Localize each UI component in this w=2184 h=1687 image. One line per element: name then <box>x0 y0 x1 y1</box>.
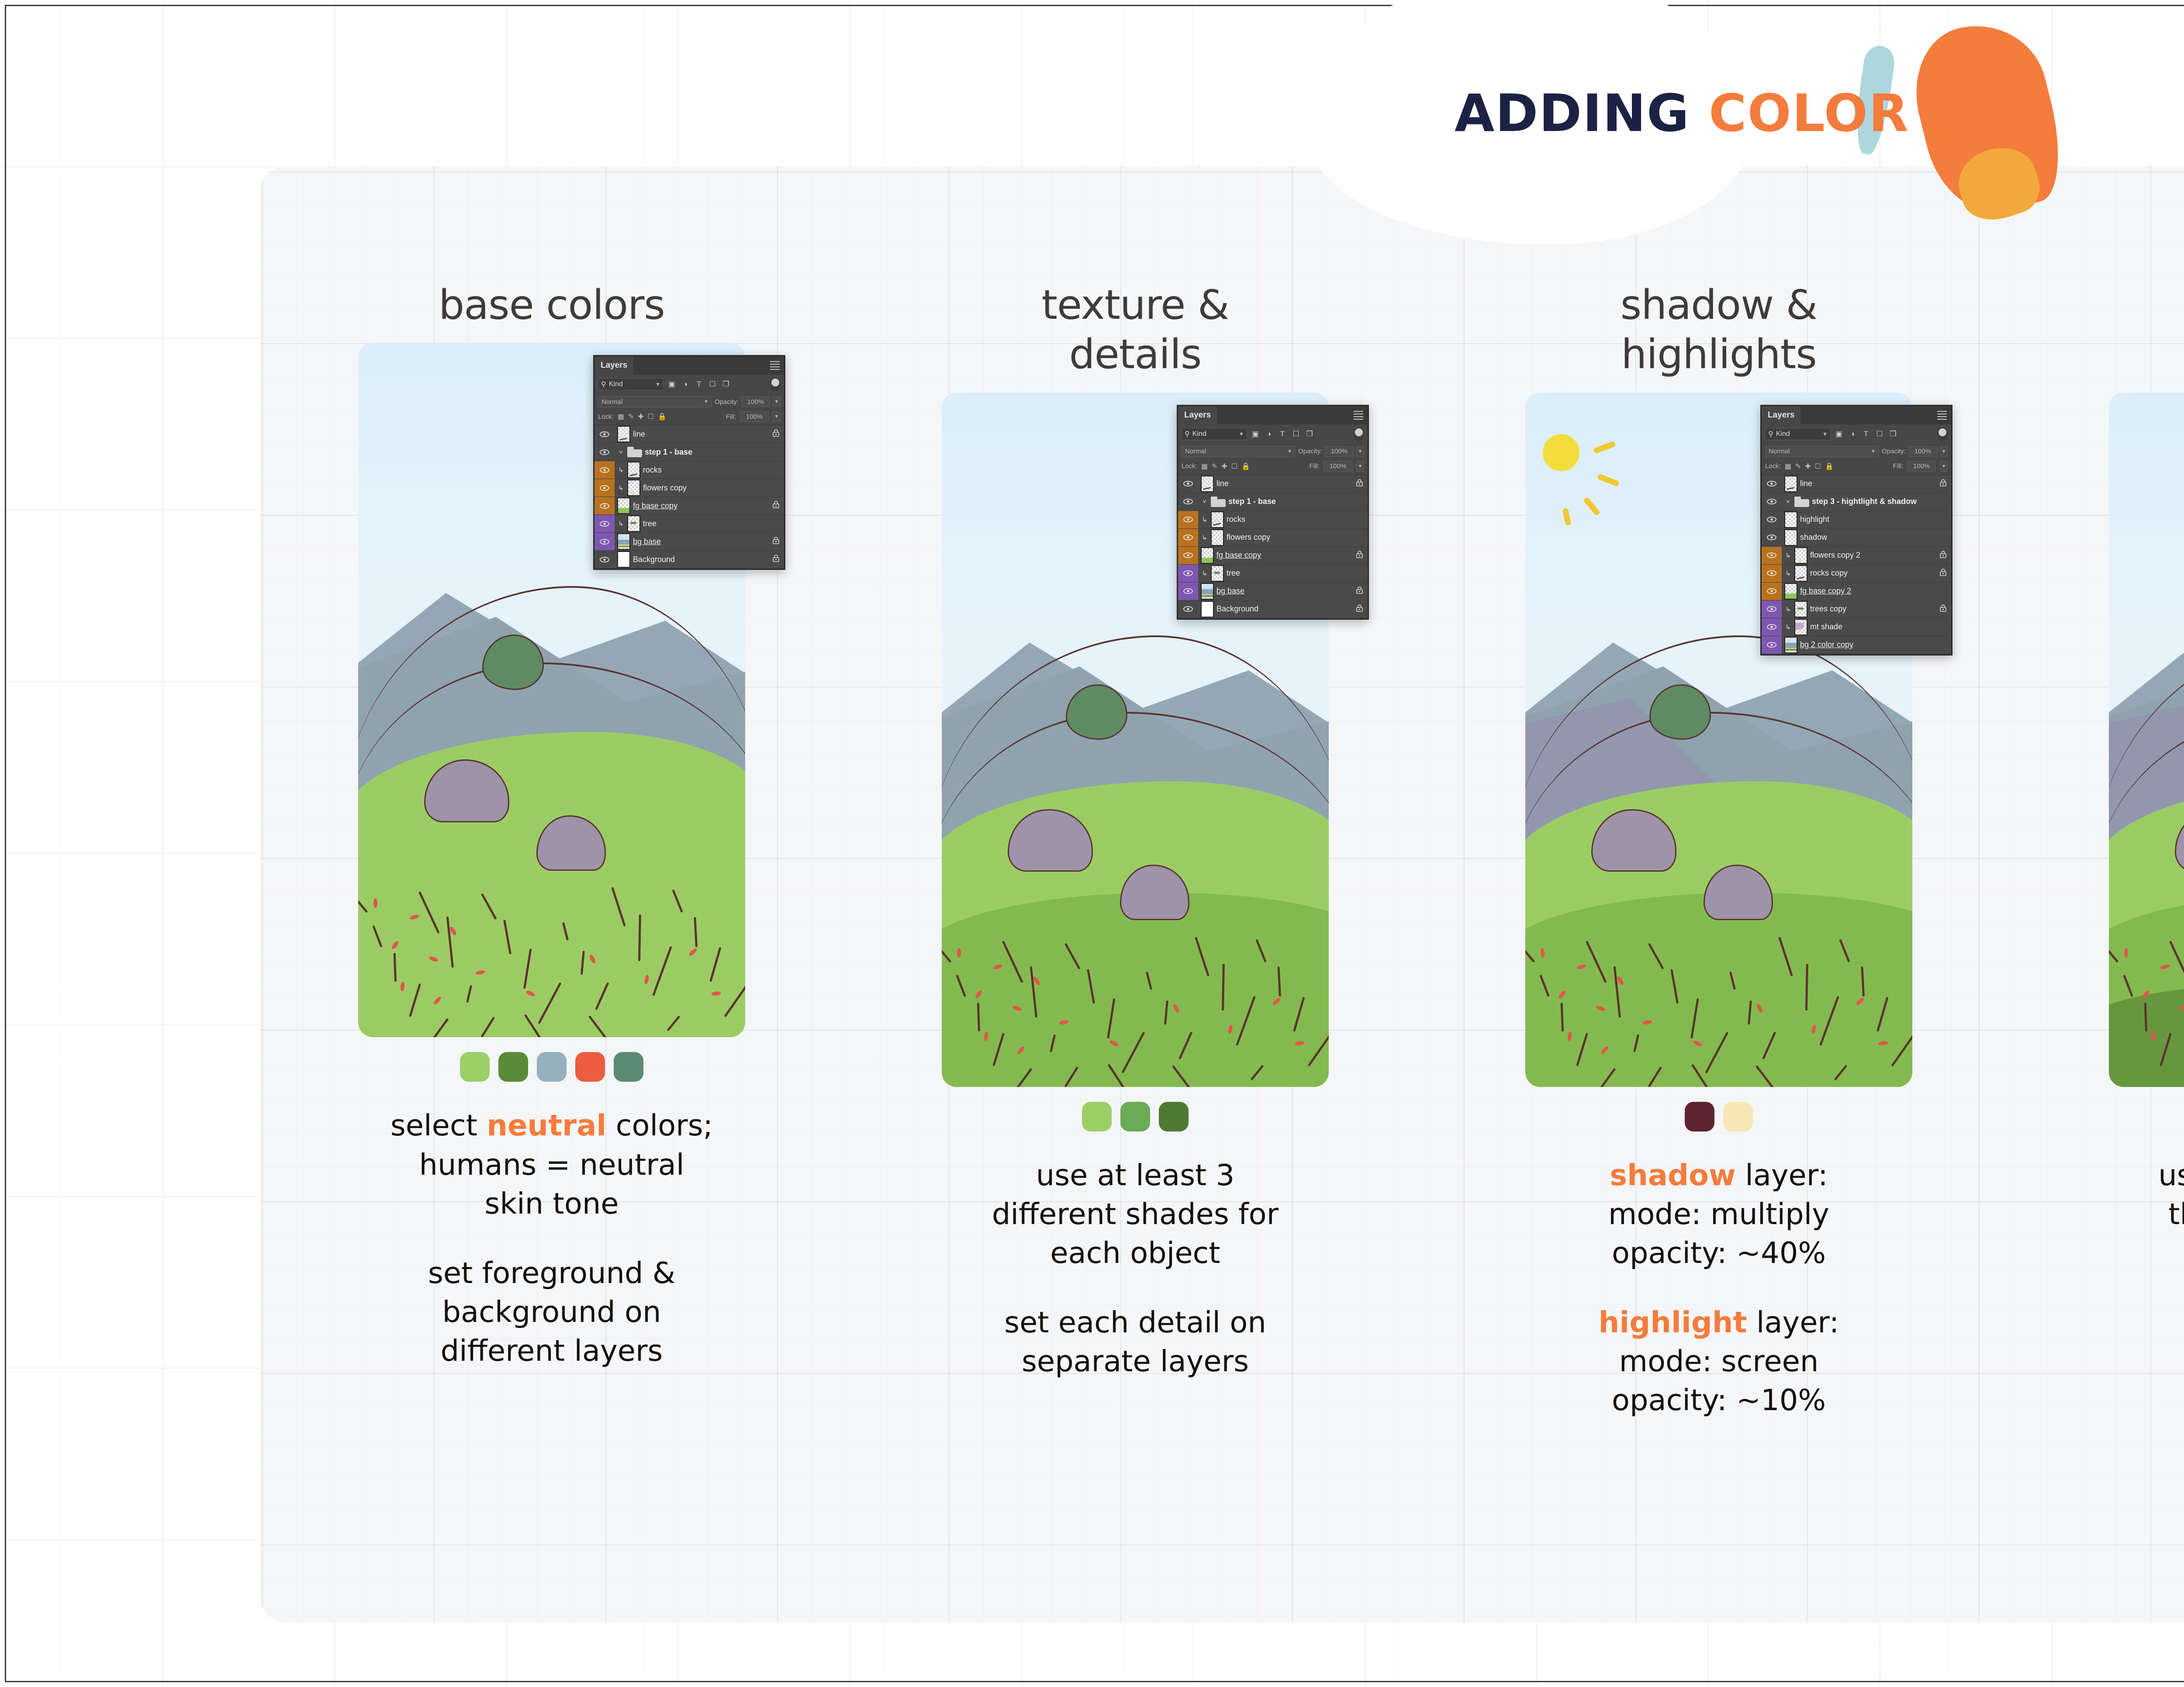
step-caption: shadow layer:mode: multiplyopacity: ~40%… <box>1599 1156 1839 1420</box>
layer-thumbnail[interactable] <box>1201 547 1214 564</box>
group-expand-chevron-icon[interactable]: ˅ <box>617 448 625 456</box>
step-column-foreground-details: foregrounddetailsLayers⚲Kind▼▣◑T☐❐Normal… <box>2011 245 2184 1598</box>
lock-transparent-icon[interactable]: ▦ <box>1201 462 1208 471</box>
layer-row[interactable]: line <box>1762 475 1951 493</box>
layer-thumbnail[interactable] <box>1784 529 1797 546</box>
filter-kind-label: Kind <box>609 380 623 388</box>
color-palette <box>460 1052 643 1082</box>
layer-name: step 1 - base <box>645 448 692 457</box>
layer-row[interactable]: Background <box>594 551 784 569</box>
layer-visibility-toggle[interactable] <box>1178 511 1198 528</box>
layer-row[interactable]: ↳tree <box>1178 565 1368 583</box>
tab-layers[interactable]: Layers <box>594 356 633 375</box>
flower-detail <box>2124 948 2128 958</box>
search-icon: ⚲ <box>1768 430 1773 438</box>
layer-name: fg base copy 2 <box>1800 586 1851 596</box>
layer-row[interactable]: ↳flowers copy 2 <box>1762 547 1951 565</box>
lock-all-icon[interactable]: 🔒 <box>1241 462 1250 471</box>
type-filter-icon[interactable]: T <box>1861 429 1871 439</box>
color-swatch[interactable] <box>1723 1102 1753 1132</box>
layer-visibility-toggle[interactable] <box>1178 529 1198 546</box>
layer-visibility-toggle[interactable] <box>1762 600 1782 618</box>
layer-thumbnail[interactable] <box>1794 601 1807 618</box>
layer-name: tree <box>1227 569 1240 578</box>
grass-midtone-layer <box>1525 893 1912 1087</box>
caption-block: shadow layer:mode: multiplyopacity: ~40% <box>1599 1156 1839 1273</box>
fill-stepper-icon[interactable]: ▼ <box>1356 461 1364 472</box>
lock-row: Lock:▦✎✚☐🔒Fill:100%▼ <box>594 410 784 425</box>
layer-visibility-toggle[interactable] <box>594 515 615 532</box>
chevron-down-icon: ▼ <box>1822 431 1828 437</box>
visibility-eye-icon[interactable] <box>1183 570 1193 576</box>
sun-icon <box>1543 434 1579 471</box>
layer-thumbnail[interactable] <box>617 533 630 550</box>
layer-visibility-toggle[interactable] <box>1762 547 1782 564</box>
caption-text: highlight <box>1599 1305 1747 1339</box>
layer-thumbnail[interactable] <box>617 551 630 568</box>
layer-thumbnail[interactable] <box>1784 637 1797 653</box>
visibility-eye-icon[interactable] <box>1767 588 1776 594</box>
caption-text: opacity: ~10% <box>1612 1383 1826 1417</box>
lock-icon <box>1356 604 1363 612</box>
lock-icon <box>1356 550 1363 559</box>
layers-list: line˅step 3 - hightlight & shadowhighlig… <box>1762 475 1951 654</box>
opacity-value[interactable]: 100% <box>741 397 770 407</box>
fill-label: Fill: <box>726 413 736 421</box>
folder-icon <box>1211 497 1226 507</box>
layer-name: bg 2 color copy <box>1800 640 1853 649</box>
visibility-eye-icon[interactable] <box>600 449 609 455</box>
visibility-eye-icon[interactable] <box>1767 624 1776 630</box>
opacity-label: Opacity: <box>1298 448 1322 455</box>
caption-text: skin tone <box>484 1187 619 1221</box>
caption-text: set foreground & <box>428 1256 675 1290</box>
layer-name: flowers copy <box>643 483 687 493</box>
filter-kind-label: Kind <box>1192 430 1206 438</box>
page-title: ADDING COLOR <box>1455 83 1909 143</box>
layer-row[interactable]: ↳rocks <box>594 461 784 479</box>
visibility-eye-icon[interactable] <box>600 539 609 545</box>
lock-artboard-icon[interactable]: ☐ <box>1815 462 1821 471</box>
opacity-label: Opacity: <box>1882 448 1906 455</box>
color-swatch[interactable] <box>1082 1102 1112 1132</box>
layer-thumbnail[interactable] <box>627 480 640 496</box>
artwork-stage: Layers⚲Kind▼▣◑T☐❐Normal▼Opacity:100%▼Loc… <box>1525 393 1912 1087</box>
caption-text: background on <box>442 1295 661 1329</box>
layer-row[interactable]: bg base <box>594 533 784 551</box>
pixel-filter-icon[interactable]: ▣ <box>1250 429 1261 439</box>
visibility-eye-icon[interactable] <box>1183 552 1193 558</box>
layer-thumbnail[interactable] <box>1784 511 1797 528</box>
visibility-eye-icon[interactable] <box>1183 606 1193 612</box>
photoshop-layers-panel[interactable]: Layers⚲Kind▼▣◑T☐❐Normal▼Opacity:100%▼Loc… <box>593 355 785 570</box>
opacity-stepper-icon[interactable]: ▼ <box>1356 446 1364 457</box>
photoshop-layers-panel[interactable]: Layers⚲Kind▼▣◑T☐❐Normal▼Opacity:100%▼Loc… <box>1177 405 1369 620</box>
color-swatch[interactable] <box>460 1052 490 1082</box>
visibility-eye-icon[interactable] <box>1767 481 1776 486</box>
layer-name: Background <box>633 555 675 564</box>
filter-enable-toggle[interactable] <box>1937 428 1948 441</box>
clipping-mask-arrow-icon: ↳ <box>1201 516 1208 524</box>
lock-transparent-icon[interactable]: ▦ <box>618 412 624 421</box>
caption-text: each object <box>1050 1236 1220 1270</box>
artwork-illustration <box>2109 393 2184 1087</box>
caption-block: highlight layer:mode: screenopacity: ~10… <box>1599 1303 1839 1420</box>
layer-row[interactable]: ˅step 1 - base <box>1178 493 1368 511</box>
layer-thumbnail[interactable] <box>1211 565 1224 582</box>
layer-thumbnail[interactable] <box>1201 476 1214 492</box>
artwork-stage: Layers⚲Kind▼▣◑T☐❐Normal▼Opacity:100%▼Loc… <box>942 393 1329 1087</box>
caption-text: select <box>390 1108 487 1142</box>
layer-name: highlight <box>1800 515 1829 524</box>
layer-name: rocks copy <box>1810 569 1848 578</box>
fill-value[interactable]: 100% <box>1907 461 1936 472</box>
caption-text: layer: <box>1747 1305 1839 1339</box>
layer-name: line <box>633 430 645 439</box>
color-swatch[interactable] <box>1685 1102 1714 1132</box>
layer-thumbnail[interactable] <box>1784 583 1797 600</box>
artwork-stage: Layers⚲Kind▼▣◑T☐❐Normal▼Opacity:100%▼Loc… <box>358 343 745 1037</box>
layer-row[interactable]: bg base <box>1178 583 1368 600</box>
opacity-value[interactable]: 100% <box>1325 446 1354 457</box>
layer-name: fg base copy <box>633 501 677 511</box>
opacity-label: Opacity: <box>715 398 739 406</box>
layers-list: line˅step 1 - base↳rocks↳flowers copyfg … <box>1178 475 1368 618</box>
group-expand-chevron-icon[interactable]: ˅ <box>1784 498 1792 505</box>
opacity-value[interactable]: 100% <box>1908 446 1937 457</box>
caption-block: use darker green tothe foreground fordep… <box>2158 1156 2184 1273</box>
layer-visibility-toggle[interactable] <box>1178 565 1198 582</box>
layer-row[interactable]: ↳tree <box>594 515 784 533</box>
lock-icon <box>1356 479 1363 487</box>
lock-icon <box>772 536 780 545</box>
visibility-eye-icon[interactable] <box>1767 570 1776 576</box>
filter-kind-dropdown[interactable]: ⚲Kind▼ <box>598 378 663 390</box>
lock-icon <box>1939 550 1947 559</box>
flower-detail <box>1541 948 1545 958</box>
layer-row[interactable]: fg base copy 2 <box>1762 583 1951 600</box>
caption-text: neutral <box>487 1108 606 1142</box>
adjustment-filter-icon[interactable]: ◑ <box>1847 429 1858 439</box>
panel-menu-icon[interactable] <box>770 361 780 372</box>
filter-enable-toggle[interactable] <box>1354 428 1364 441</box>
lock-image-icon[interactable]: ✎ <box>1212 462 1217 471</box>
color-swatch[interactable] <box>537 1052 567 1082</box>
visibility-eye-icon[interactable] <box>600 521 609 527</box>
visibility-eye-icon[interactable] <box>1767 517 1776 522</box>
layer-visibility-toggle[interactable] <box>1762 475 1782 493</box>
layer-name: line <box>1216 479 1229 488</box>
lock-icon <box>1939 604 1947 612</box>
opacity-stepper-icon[interactable]: ▼ <box>1940 446 1948 457</box>
lock-position-icon[interactable]: ✚ <box>1805 462 1811 471</box>
caption-text: shadow <box>1610 1158 1736 1192</box>
filter-kind-dropdown[interactable]: ⚲Kind▼ <box>1765 428 1831 440</box>
layer-thumbnail[interactable] <box>1201 583 1214 600</box>
filter-kind-label: Kind <box>1776 430 1790 438</box>
layer-row[interactable]: bg 2 color copy <box>1762 636 1951 654</box>
blend-mode-value: Normal <box>1769 448 1790 455</box>
smart-object-filter-icon[interactable]: ❐ <box>1304 429 1315 439</box>
clipping-mask-arrow-icon: ↳ <box>1784 569 1792 577</box>
layer-thumbnail[interactable] <box>1784 476 1797 492</box>
step-title: texture &details <box>1042 280 1229 379</box>
layer-thumbnail[interactable] <box>1211 529 1224 546</box>
lock-icon <box>1939 479 1947 487</box>
layer-name: bg base <box>1216 586 1244 596</box>
visibility-eye-icon[interactable] <box>1767 606 1776 612</box>
lock-row: Lock:▦✎✚☐🔒Fill:100%▼ <box>1762 459 1951 475</box>
layer-thumbnail[interactable] <box>1201 601 1214 618</box>
clipping-mask-arrow-icon: ↳ <box>1201 569 1208 577</box>
color-swatch[interactable] <box>575 1052 605 1082</box>
caption-text: different shades for <box>992 1197 1279 1231</box>
layer-row[interactable]: ↳mt shade <box>1762 618 1951 636</box>
layer-row[interactable]: fg base copy <box>1178 547 1368 565</box>
caption-block: use at least 3different shades foreach o… <box>992 1156 1279 1273</box>
layer-row[interactable]: ˅step 3 - hightlight & shadow <box>1762 493 1951 511</box>
layer-name: step 3 - hightlight & shadow <box>1812 497 1917 506</box>
lock-icon <box>1939 568 1947 576</box>
folder-icon <box>1794 497 1809 507</box>
layer-filter-bar: ⚲Kind▼▣◑T☐❐ <box>1762 424 1951 444</box>
layer-thumbnail[interactable] <box>617 497 630 514</box>
shape-filter-icon[interactable]: ☐ <box>1291 429 1301 439</box>
clipping-mask-arrow-icon: ↳ <box>617 466 625 474</box>
visibility-eye-icon[interactable] <box>600 431 609 437</box>
type-filter-icon[interactable]: T <box>1277 429 1288 439</box>
layer-visibility-toggle[interactable] <box>1178 475 1198 493</box>
layer-thumbnail[interactable] <box>1794 547 1807 564</box>
step-column-texture-details: texture &detailsLayers⚲Kind▼▣◑T☐❐Normal▼… <box>843 245 1427 1598</box>
layer-row[interactable]: ↳rocks copy <box>1762 565 1951 583</box>
layer-visibility-toggle[interactable] <box>1762 618 1782 636</box>
panel-tab-bar: Layers <box>594 356 784 375</box>
grass-midtone-layer <box>942 893 1329 1087</box>
color-swatch[interactable] <box>498 1052 528 1082</box>
opacity-stepper-icon[interactable]: ▼ <box>773 397 781 407</box>
fill-value[interactable]: 100% <box>740 411 769 422</box>
clipping-mask-arrow-icon: ↳ <box>617 520 625 528</box>
lock-transparent-icon[interactable]: ▦ <box>1785 462 1791 471</box>
caption-block: set foreground &background ondifferent l… <box>390 1254 713 1370</box>
caption-text: use at least 3 <box>1036 1158 1235 1192</box>
lock-image-icon[interactable]: ✎ <box>1795 462 1801 471</box>
layer-visibility-toggle[interactable] <box>594 443 615 461</box>
chevron-down-icon: ▼ <box>1871 449 1876 454</box>
smart-object-filter-icon[interactable]: ❐ <box>721 379 731 390</box>
lock-artboard-icon[interactable]: ☐ <box>1231 462 1237 471</box>
visibility-eye-icon[interactable] <box>1183 535 1193 540</box>
caption-block: select neutral colors;humans = neutralsk… <box>390 1106 713 1223</box>
lock-icon <box>772 429 780 437</box>
type-filter-icon[interactable]: T <box>694 379 704 390</box>
color-swatch[interactable] <box>614 1052 643 1082</box>
visibility-eye-icon[interactable] <box>1767 535 1776 540</box>
visibility-eye-icon[interactable] <box>1767 499 1776 504</box>
fill-value[interactable]: 100% <box>1324 461 1352 472</box>
fill-label: Fill: <box>1310 462 1320 470</box>
color-swatch[interactable] <box>1159 1102 1189 1132</box>
blend-mode-dropdown[interactable]: Normal▼ <box>1182 446 1296 457</box>
layer-visibility-toggle[interactable] <box>1178 583 1198 600</box>
layer-thumbnail[interactable] <box>627 462 640 478</box>
blend-mode-dropdown[interactable]: Normal▼ <box>1765 446 1879 457</box>
layer-visibility-toggle[interactable] <box>1762 583 1782 600</box>
lock-icon <box>772 554 780 562</box>
layer-row[interactable]: ˅step 1 - base <box>594 443 784 461</box>
step-title: shadow &highlights <box>1621 280 1817 379</box>
step-caption: use at least 3different shades foreach o… <box>992 1156 1279 1381</box>
caption-text: layer: <box>1736 1158 1828 1192</box>
layer-thumbnail[interactable] <box>627 515 640 532</box>
color-palette <box>1685 1102 1753 1132</box>
layer-visibility-toggle[interactable] <box>1762 511 1782 528</box>
blend-mode-row: Normal▼Opacity:100%▼ <box>1762 444 1951 459</box>
tab-layers[interactable]: Layers <box>1178 406 1217 424</box>
panel-tab-bar: Layers <box>1178 406 1368 424</box>
visibility-eye-icon[interactable] <box>600 557 609 562</box>
layer-row[interactable]: highlight <box>1762 511 1951 529</box>
search-icon: ⚲ <box>1185 430 1190 438</box>
layer-row[interactable]: line <box>1178 475 1368 493</box>
group-expand-chevron-icon[interactable]: ˅ <box>1201 498 1208 505</box>
lock-all-icon[interactable]: 🔒 <box>1825 462 1834 471</box>
visibility-eye-icon[interactable] <box>1183 588 1193 594</box>
layer-row[interactable]: ↳trees copy <box>1762 600 1951 618</box>
lock-position-icon[interactable]: ✚ <box>1221 462 1227 471</box>
caption-text: use darker green to <box>2158 1158 2184 1192</box>
layer-name: bg base <box>633 537 661 546</box>
caption-text: mode: screen <box>1619 1344 1819 1378</box>
folder-icon <box>627 447 642 457</box>
lock-label: Lock: <box>1182 462 1197 470</box>
visibility-eye-icon[interactable] <box>1183 517 1193 522</box>
layer-visibility-toggle[interactable] <box>594 551 615 568</box>
fill-stepper-icon[interactable]: ▼ <box>1940 461 1948 472</box>
layer-name: rocks <box>1227 515 1245 524</box>
layer-row[interactable]: fg base copy <box>594 497 784 515</box>
layer-visibility-toggle[interactable] <box>594 533 615 550</box>
fill-stepper-icon[interactable]: ▼ <box>773 411 781 422</box>
visibility-eye-icon[interactable] <box>1183 481 1193 486</box>
layer-visibility-toggle[interactable] <box>1178 547 1198 564</box>
photoshop-layers-panel[interactable]: Layers⚲Kind▼▣◑T☐❐Normal▼Opacity:100%▼Loc… <box>1760 405 1952 655</box>
layer-name: trees copy <box>1810 604 1846 614</box>
layer-thumbnail[interactable] <box>1211 511 1224 528</box>
layer-visibility-toggle[interactable] <box>1762 493 1782 511</box>
title-word-adding: ADDING <box>1455 83 1690 143</box>
lock-position-icon[interactable]: ✚ <box>638 412 643 421</box>
layer-filter-bar: ⚲Kind▼▣◑T☐❐ <box>594 375 784 394</box>
layer-visibility-toggle[interactable] <box>594 497 615 514</box>
blend-mode-value: Normal <box>1185 448 1206 455</box>
visibility-eye-icon[interactable] <box>1767 552 1776 558</box>
pixel-filter-icon[interactable]: ▣ <box>1834 429 1844 439</box>
artwork-stage: Layers⚲Kind▼▣◑T☐❐Normal▼Opacity:100%▼Loc… <box>2109 393 2184 1087</box>
layer-row[interactable]: shadow <box>1762 529 1951 547</box>
chevron-down-icon: ▼ <box>704 399 708 404</box>
layer-visibility-toggle[interactable] <box>1178 600 1198 618</box>
caption-text: humans = neutral <box>419 1148 684 1182</box>
layer-name: shadow <box>1800 533 1827 542</box>
lock-label: Lock: <box>598 413 614 421</box>
adjustment-filter-icon[interactable]: ◑ <box>1264 429 1274 439</box>
layer-visibility-toggle[interactable] <box>1762 565 1782 582</box>
layer-row[interactable]: ↳rocks <box>1178 511 1368 529</box>
clipping-mask-arrow-icon: ↳ <box>617 484 625 492</box>
caption-text: different layers <box>441 1334 663 1368</box>
blend-mode-row: Normal▼Opacity:100%▼ <box>1178 444 1368 459</box>
layer-row[interactable]: ↳flowers copy <box>594 479 784 497</box>
layer-name: Background <box>1216 604 1258 614</box>
steps-columns: base colorsLayers⚲Kind▼▣◑T☐❐Normal▼Opaci… <box>260 245 2184 1598</box>
title-word-color: COLOR <box>1709 83 1909 143</box>
lock-image-icon[interactable]: ✎ <box>628 412 634 421</box>
layer-visibility-toggle[interactable] <box>594 425 615 443</box>
pixel-filter-icon[interactable]: ▣ <box>667 379 677 390</box>
filter-kind-dropdown[interactable]: ⚲Kind▼ <box>1182 428 1247 440</box>
visibility-eye-icon[interactable] <box>1183 499 1193 504</box>
layer-thumbnail[interactable] <box>617 426 630 442</box>
step-title: base colors <box>439 280 665 330</box>
layer-visibility-toggle[interactable] <box>1762 529 1782 546</box>
layer-thumbnail[interactable] <box>1794 565 1807 582</box>
lock-row: Lock:▦✎✚☐🔒Fill:100%▼ <box>1178 459 1368 475</box>
caption-text: set each detail on <box>1004 1305 1266 1339</box>
blend-mode-value: Normal <box>601 398 622 406</box>
lock-all-icon[interactable]: 🔒 <box>658 412 667 421</box>
panel-menu-icon[interactable] <box>1354 411 1363 421</box>
adjustment-filter-icon[interactable]: ◑ <box>680 379 691 390</box>
filter-enable-toggle[interactable] <box>770 378 781 391</box>
visibility-eye-icon[interactable] <box>600 485 609 491</box>
visibility-eye-icon[interactable] <box>600 503 609 509</box>
layer-visibility-toggle[interactable] <box>594 461 615 479</box>
caption-text: mode: multiply <box>1608 1197 1829 1231</box>
caption-block: set each detail onseparate layers <box>992 1303 1279 1381</box>
fill-label: Fill: <box>1893 462 1903 470</box>
search-icon: ⚲ <box>601 380 606 389</box>
visibility-eye-icon[interactable] <box>600 467 609 473</box>
caption-text: colors; <box>606 1108 713 1142</box>
shape-filter-icon[interactable]: ☐ <box>1874 429 1885 439</box>
visibility-eye-icon[interactable] <box>1767 642 1776 648</box>
tab-layers[interactable]: Layers <box>1762 406 1800 424</box>
step-caption: select neutral colors;humans = neutralsk… <box>390 1106 713 1370</box>
chevron-down-icon: ▼ <box>1239 431 1244 437</box>
layer-visibility-toggle[interactable] <box>1762 636 1782 654</box>
color-swatch[interactable] <box>1120 1102 1150 1132</box>
layer-row[interactable]: Background <box>1178 600 1368 618</box>
blend-mode-dropdown[interactable]: Normal▼ <box>598 396 712 407</box>
layer-visibility-toggle[interactable] <box>1178 493 1198 511</box>
chevron-down-icon: ▼ <box>655 381 660 387</box>
layer-row[interactable]: ↳flowers copy <box>1178 529 1368 547</box>
clipping-mask-arrow-icon: ↳ <box>1784 552 1792 559</box>
lock-icon <box>772 500 780 509</box>
shape-filter-icon[interactable]: ☐ <box>707 379 718 390</box>
color-palette <box>1082 1102 1189 1132</box>
layer-visibility-toggle[interactable] <box>594 479 615 497</box>
step-column-shadow-highlights: shadow &highlightsLayers⚲Kind▼▣◑T☐❐Norma… <box>1427 245 2011 1598</box>
panel-tab-bar: Layers <box>1762 406 1951 424</box>
smart-object-filter-icon[interactable]: ❐ <box>1888 429 1898 439</box>
panel-menu-icon[interactable] <box>1937 411 1947 421</box>
lock-artboard-icon[interactable]: ☐ <box>648 412 654 421</box>
layer-row[interactable]: line <box>594 425 784 443</box>
layer-thumbnail[interactable] <box>1794 619 1807 635</box>
